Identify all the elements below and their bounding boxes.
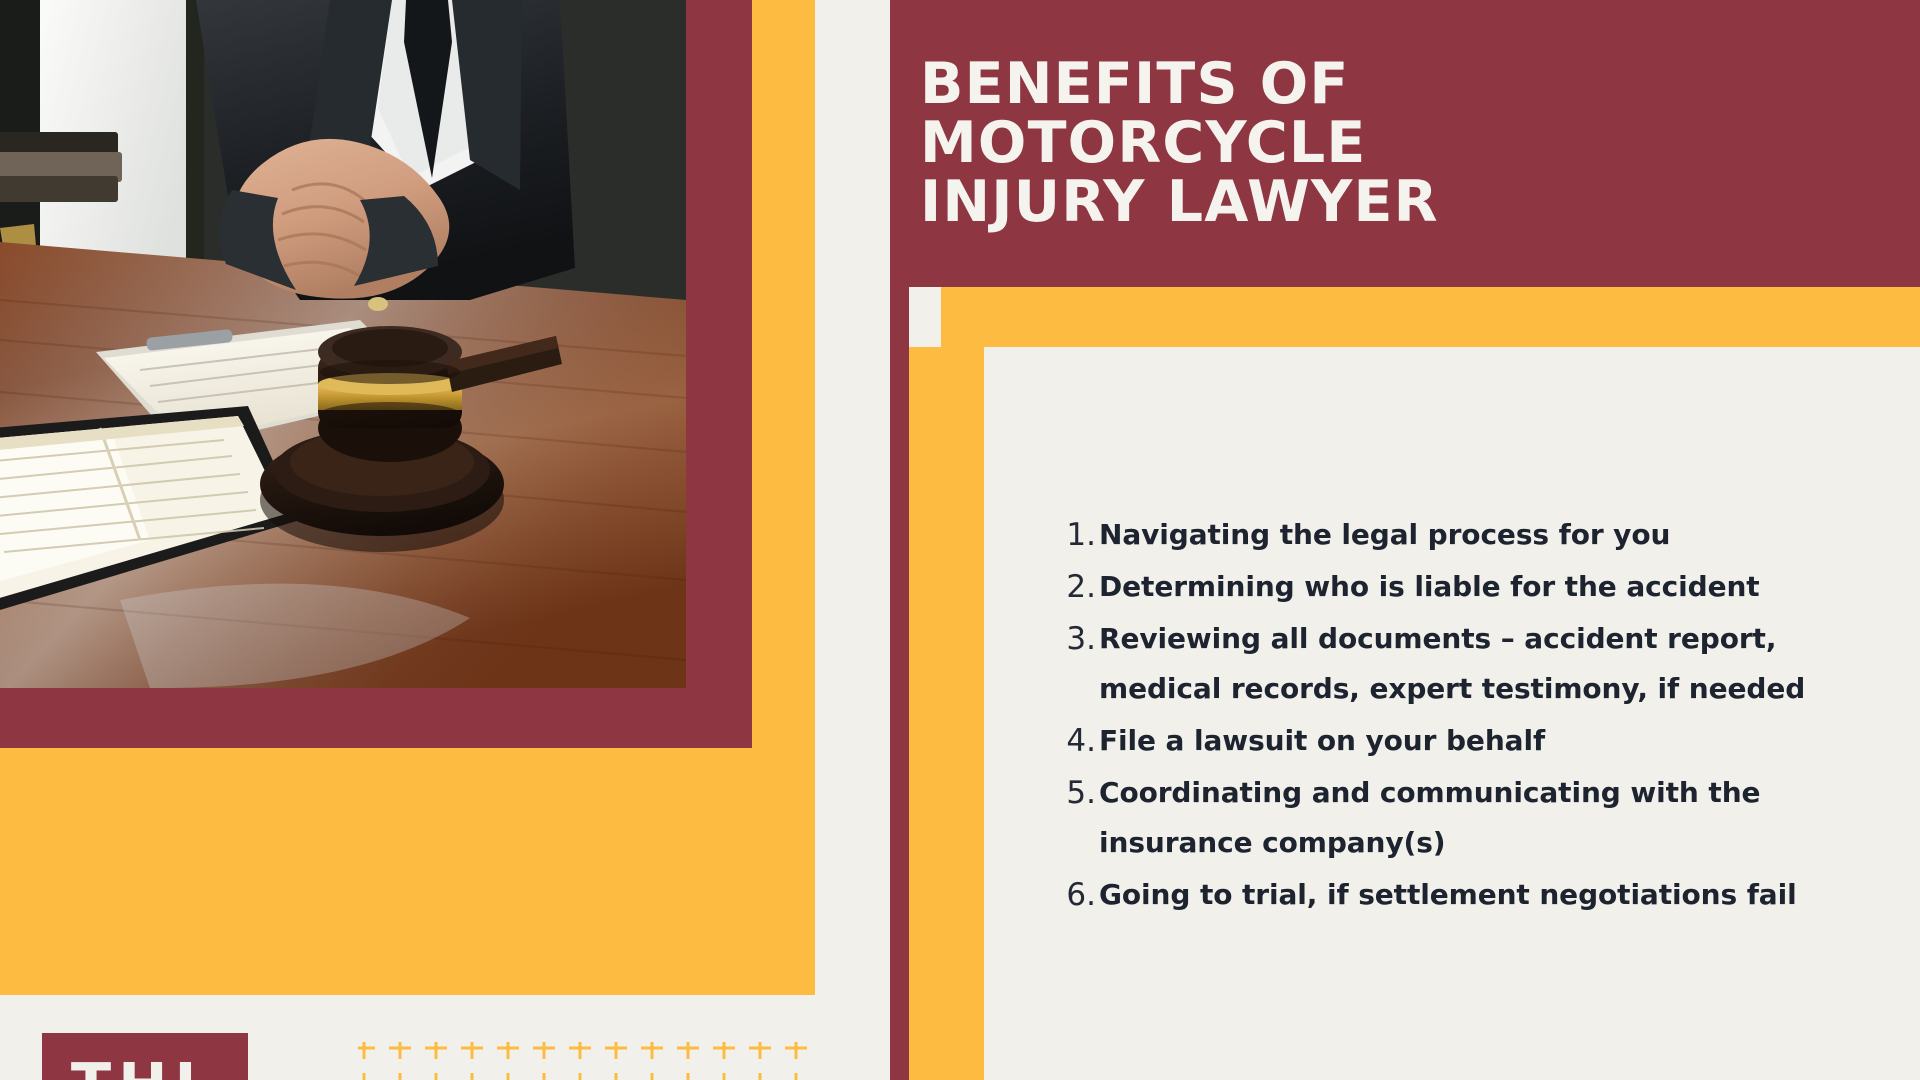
list-item-text: Coordinating and communicating with the … bbox=[1099, 768, 1883, 868]
list-item-text: Reviewing all documents – accident repor… bbox=[1099, 614, 1883, 714]
left-accent-strip-maroon bbox=[890, 287, 909, 1080]
list-item: 6.Going to trial, if settlement negotiat… bbox=[1063, 870, 1883, 920]
left-accent-strip-yellow bbox=[909, 347, 984, 1080]
list-item-text: Going to trial, if settlement negotiatio… bbox=[1099, 870, 1883, 920]
list-item-number: 5. bbox=[1063, 768, 1099, 818]
list-item-number: 4. bbox=[1063, 716, 1099, 766]
list-item: 4.File a lawsuit on your behalf bbox=[1063, 716, 1883, 766]
title-banner: BENEFITS OF MOTORCYCLE INJURY LAWYER bbox=[890, 0, 1920, 287]
thl-logo: THL bbox=[42, 1033, 248, 1080]
list-item: 1.Navigating the legal process for you bbox=[1063, 510, 1883, 560]
list-item: 3.Reviewing all documents – accident rep… bbox=[1063, 614, 1883, 714]
logo-text: THL bbox=[71, 1055, 219, 1080]
benefits-list: 1.Navigating the legal process for you2.… bbox=[1063, 510, 1883, 922]
list-item: 2.Determining who is liable for the acci… bbox=[1063, 562, 1883, 612]
page-title: BENEFITS OF MOTORCYCLE INJURY LAWYER bbox=[890, 55, 1439, 233]
list-item: 5.Coordinating and communicating with th… bbox=[1063, 768, 1883, 868]
list-item-number: 1. bbox=[1063, 510, 1099, 560]
list-item-text: Determining who is liable for the accide… bbox=[1099, 562, 1883, 612]
list-item-number: 3. bbox=[1063, 614, 1099, 664]
hero-photo bbox=[0, 0, 686, 688]
list-item-number: 6. bbox=[1063, 870, 1099, 920]
list-item-number: 2. bbox=[1063, 562, 1099, 612]
title-underbar-accent bbox=[941, 287, 1920, 347]
list-item-text: File a lawsuit on your behalf bbox=[1099, 716, 1883, 766]
left-composition bbox=[0, 0, 815, 1000]
list-item-text: Navigating the legal process for you bbox=[1099, 510, 1883, 560]
plus-grid-decoration bbox=[358, 1042, 818, 1080]
